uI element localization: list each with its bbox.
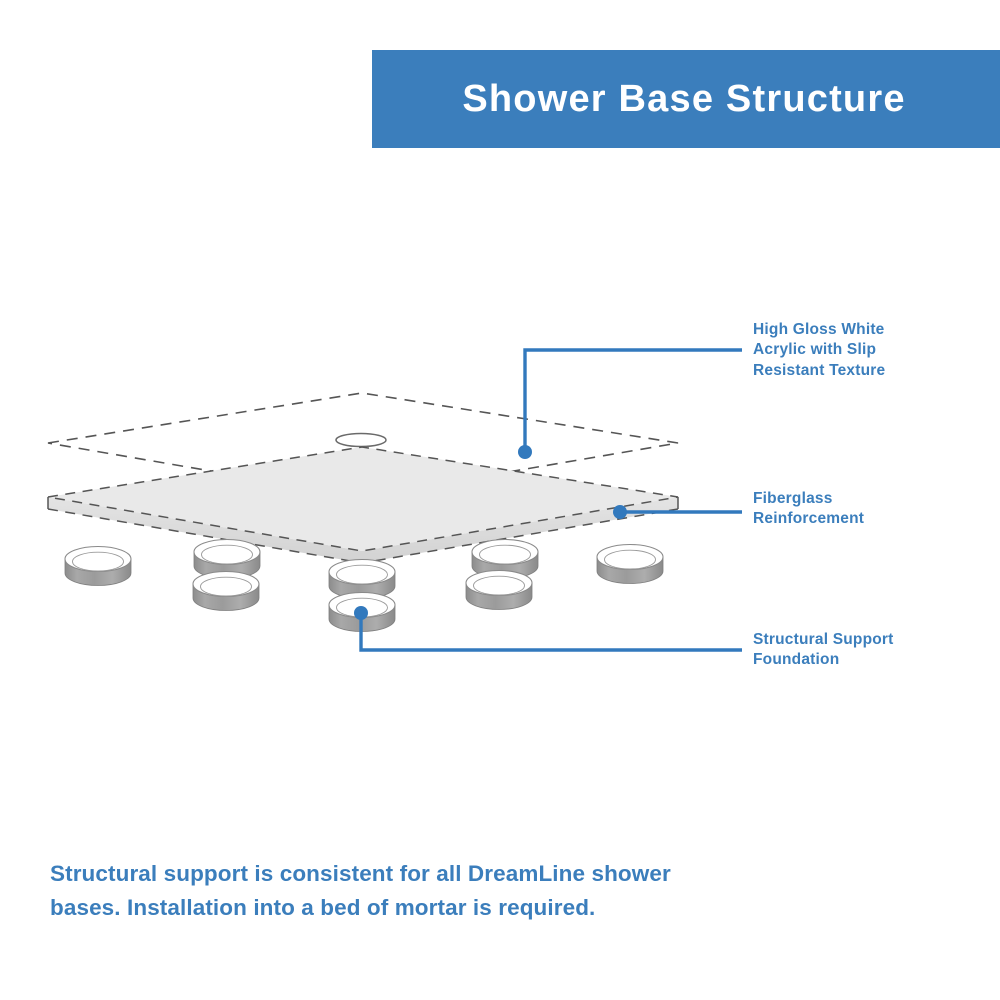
leader-line-support — [361, 613, 742, 650]
support-ring — [65, 547, 131, 586]
callout-label-fiberglass: Fiberglass Reinforcement — [753, 489, 983, 530]
footer-note: Structural support is consistent for all… — [50, 857, 690, 925]
header-banner: Shower Base Structure — [372, 50, 1000, 148]
fiberglass-slab — [48, 447, 678, 563]
leader-dot-support — [354, 606, 368, 620]
support-ring — [193, 572, 259, 611]
page-title: Shower Base Structure — [462, 80, 909, 118]
callout-label-acrylic: High Gloss White Acrylic with Slip Resis… — [753, 320, 983, 381]
support-ring — [466, 571, 532, 610]
leader-dot-acrylic — [518, 445, 532, 459]
diagram-page: Shower Base Structure — [0, 0, 1000, 1000]
leader-dot-fiberglass — [613, 505, 627, 519]
callout-label-support: Structural Support Foundation — [753, 630, 983, 671]
support-ring — [597, 545, 663, 584]
drain-ellipse — [336, 434, 386, 447]
